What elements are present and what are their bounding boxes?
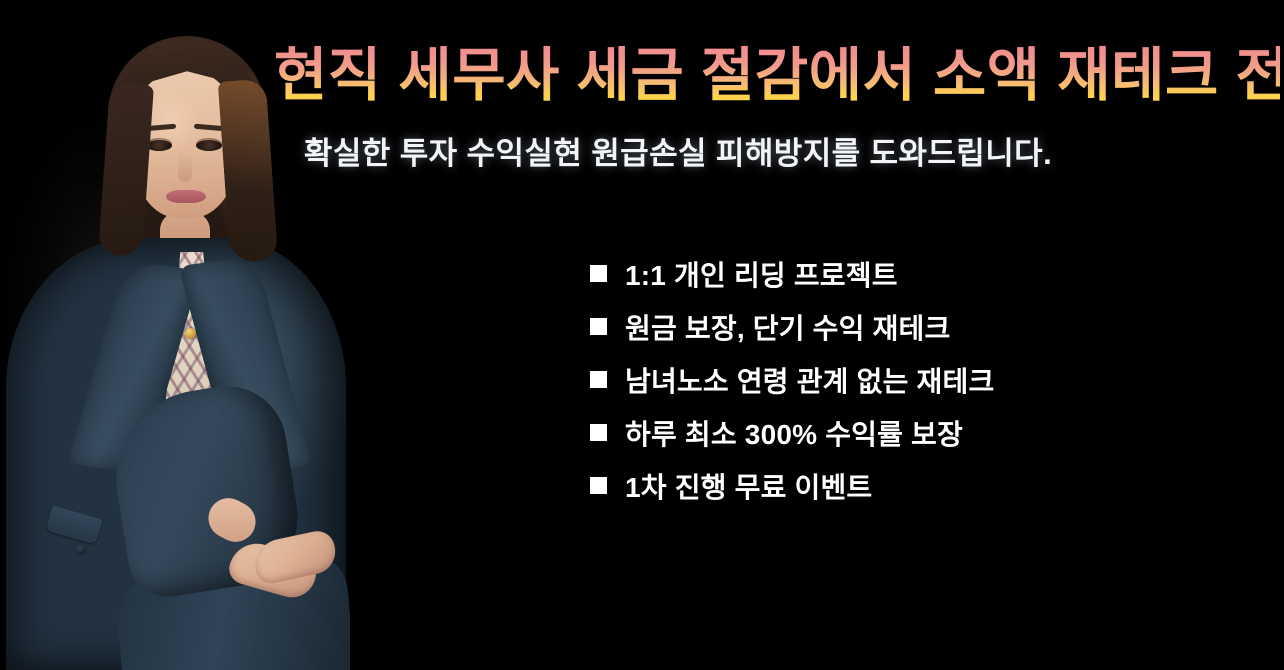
list-item: 남녀노소 연령 관계 없는 재테크	[590, 353, 994, 406]
banner-subheadline: 확실한 투자 수익실현 원급손실 피해방지를 도와드립니다.	[0, 128, 1284, 173]
feature-label: 원금 보장, 단기 수익 재테크	[625, 307, 950, 347]
pocket-flap	[45, 505, 102, 544]
suit-lapel-left	[67, 259, 200, 474]
hair-front	[118, 40, 256, 132]
blouse-button	[194, 452, 205, 463]
jacket-sleeve	[103, 378, 307, 603]
square-bullet-icon	[590, 371, 607, 388]
list-item: 1차 진행 무료 이벤트	[590, 459, 994, 512]
list-item: 원금 보장, 단기 수익 재테크	[590, 300, 994, 353]
list-item: 하루 최소 300% 수익률 보장	[590, 406, 994, 459]
feature-label: 1:1 개인 리딩 프로젝트	[625, 254, 898, 294]
square-bullet-icon	[590, 265, 607, 282]
blouse-button	[185, 328, 196, 339]
feature-label: 남녀노소 연령 관계 없는 재테크	[625, 360, 994, 400]
square-bullet-icon	[590, 477, 607, 494]
feature-label: 하루 최소 300% 수익률 보장	[625, 413, 963, 453]
photo-glow	[0, 10, 350, 670]
feature-list: 1:1 개인 리딩 프로젝트 원금 보장, 단기 수익 재테크 남녀노소 연령 …	[590, 247, 994, 512]
suit-jacket	[6, 238, 346, 670]
square-bullet-icon	[590, 318, 607, 335]
square-bullet-icon	[590, 424, 607, 441]
blouse	[160, 252, 220, 447]
feature-label: 1차 진행 무료 이벤트	[625, 466, 872, 506]
clasped-hands	[228, 528, 336, 606]
jacket-button	[76, 545, 86, 555]
promo-banner: 현직 세무사 세금 절감에서 소액 재테크 전문가 확실한 투자 수익실현 원급…	[0, 0, 1284, 670]
banner-headline: 현직 세무사 세금 절감에서 소액 재테크 전문가	[274, 44, 1280, 109]
hand-right	[251, 528, 340, 586]
blouse-button	[189, 392, 200, 403]
list-item: 1:1 개인 리딩 프로젝트	[590, 247, 994, 300]
lap	[113, 550, 350, 670]
hand-left	[226, 537, 321, 603]
wrist	[201, 491, 262, 549]
jacket-button	[118, 483, 128, 493]
neck	[160, 212, 210, 270]
suit-lapel-right	[178, 255, 311, 475]
mouth	[166, 190, 206, 203]
